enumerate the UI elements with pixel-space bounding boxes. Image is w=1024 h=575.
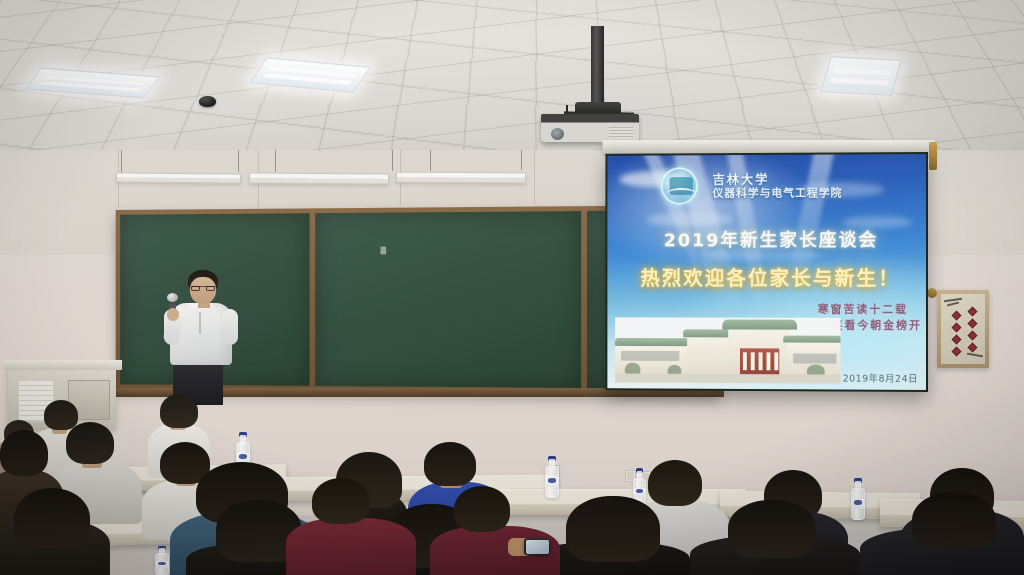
presentation-slide: 吉林大学 仪器科学与电气工程学院 2019年新生家长座谈会 热烈欢迎各位家长与新…	[607, 154, 926, 390]
podium-top-surface	[4, 360, 122, 370]
projector-vent	[609, 127, 633, 138]
light-hanging-wire	[521, 150, 522, 170]
light-hanging-wire	[121, 150, 122, 174]
suspended-light-fixture	[249, 173, 389, 185]
suspended-light-fixture	[116, 172, 241, 183]
eyeglasses-icon	[191, 286, 215, 291]
slide-welcome-text: 热烈欢迎各位家长与新生！	[617, 262, 924, 291]
screen-bracket-top	[929, 142, 937, 170]
smartphone-recording[interactable]	[524, 538, 550, 555]
suspended-light-fixture	[396, 172, 526, 184]
ceiling-mounted-projector	[541, 114, 639, 142]
ceiling-dome-camera-icon	[199, 96, 216, 107]
water-bottle[interactable]	[545, 456, 559, 498]
light-hanging-wire	[430, 150, 431, 171]
slide-date: 2019年8月24日	[843, 371, 918, 385]
screen-bracket-bottom	[927, 288, 937, 298]
speaker-hand	[167, 308, 179, 321]
slide-campus-building-image	[615, 317, 840, 383]
panel-light-right	[820, 56, 901, 96]
blackboard-panel-2	[315, 211, 581, 388]
water-bottle[interactable]	[155, 546, 169, 575]
light-hanging-wire	[238, 150, 239, 172]
slide-college-name: 仪器科学与电气工程学院	[713, 184, 843, 200]
slide-poem-line-1: 寒窗苦读十二载	[818, 302, 908, 318]
projector-mount-pole	[591, 26, 604, 112]
water-bottle[interactable]	[851, 478, 865, 520]
light-hanging-wire	[275, 150, 276, 172]
lecture-hall-photo: 吉林大学 仪器科学与电气工程学院 2019年新生家长座谈会 热烈欢迎各位家长与新…	[0, 0, 1024, 575]
projector-lens-icon	[551, 128, 564, 140]
projection-screen[interactable]: 吉林大学 仪器科学与电气工程学院 2019年新生家长座谈会 热烈欢迎各位家长与新…	[605, 152, 928, 392]
framed-wall-decoration	[937, 290, 989, 368]
light-hanging-wire	[392, 150, 393, 171]
wall-seam	[534, 150, 535, 204]
slide-title: 2019年新生家长座谈会	[629, 226, 914, 252]
microphone-head-icon	[167, 293, 178, 302]
university-emblem-icon	[661, 167, 698, 205]
